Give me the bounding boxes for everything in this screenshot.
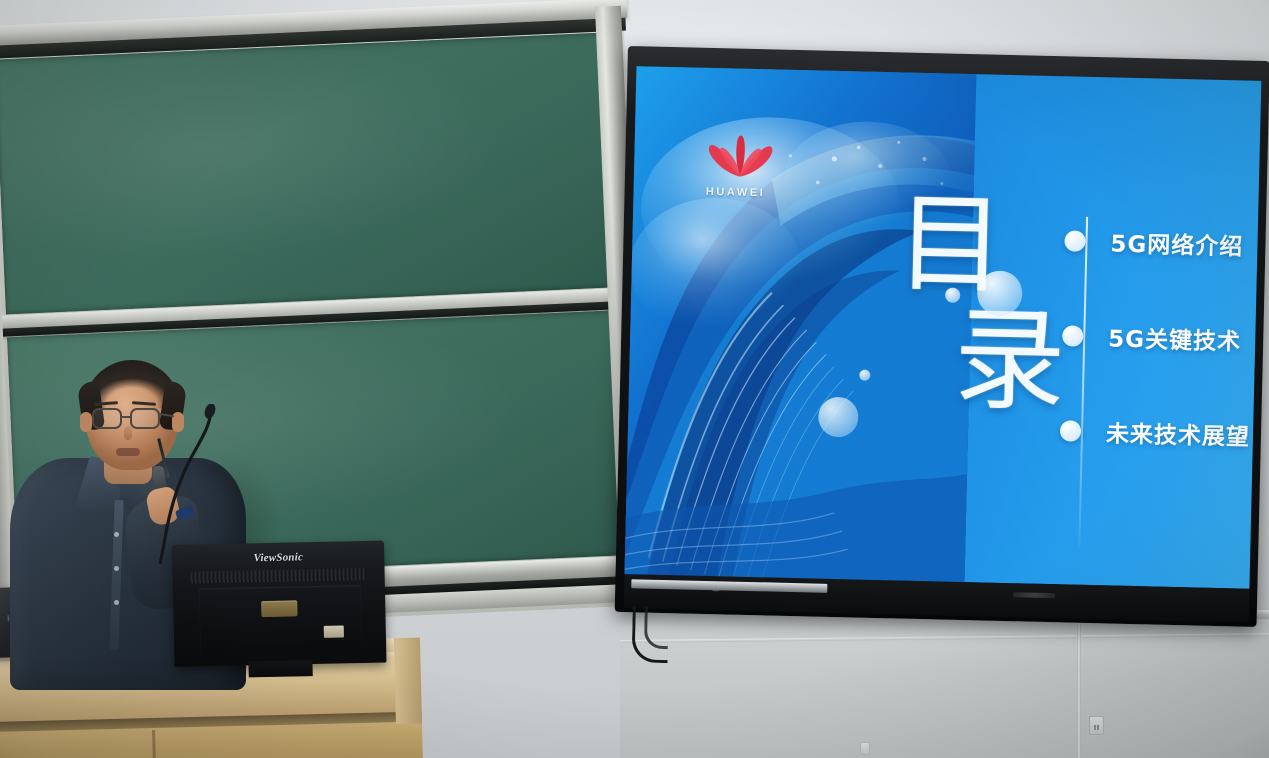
toc-item-label: 未来技术展望 [1106, 414, 1251, 451]
power-outlet-secondary [860, 742, 870, 755]
toc-item-3: 未来技术展望 [1060, 408, 1251, 456]
display-screen[interactable]: HUAWEI 目 录 5G网络介绍 [625, 66, 1262, 589]
monitor-label-sticker [324, 625, 344, 637]
presenter-nose [124, 426, 132, 440]
toc-item-label: 5G关键技术 [1108, 319, 1242, 356]
wave-illustration [625, 66, 977, 582]
toc-item-1: 5G网络介绍 [1064, 218, 1244, 266]
display-brand-mark [1013, 592, 1055, 598]
monitor-vesa-plate [261, 600, 297, 617]
decorative-bubble [977, 270, 1023, 316]
toc-item-label: 5G网络介绍 [1110, 224, 1244, 261]
presenter-mouth [116, 448, 140, 456]
presentation-display[interactable]: HUAWEI 目 录 5G网络介绍 [615, 46, 1269, 631]
eyeglasses-lens-left [92, 408, 122, 429]
slide-toc: HUAWEI 目 录 5G网络介绍 [625, 66, 1262, 589]
blackboard-panel-upper [0, 32, 629, 315]
huawei-flower-logo [690, 126, 791, 190]
bullet-dot-icon [1062, 325, 1083, 346]
presenter-ear-left [80, 412, 92, 432]
toc-item-2: 5G关键技术 [1062, 313, 1242, 361]
gooseneck-microphone [158, 404, 216, 564]
wave-background-image [625, 66, 977, 582]
power-outlet [1089, 716, 1104, 735]
monitor-brand-logo: ViewSonic [232, 551, 324, 565]
bullet-dot-icon [1064, 230, 1085, 251]
lectern-monitor[interactable]: ViewSonic [172, 541, 387, 677]
toc-connector-line [1078, 217, 1088, 547]
wall-seam-vertical [1077, 618, 1081, 758]
monitor-stand [248, 660, 312, 677]
eyeglasses-lens-right [130, 408, 160, 429]
lectern-right-edge [394, 637, 422, 724]
shirt-button [114, 600, 119, 605]
shirt-button [114, 532, 119, 537]
shirt-button [114, 566, 119, 571]
monitor-rear-inset [199, 585, 362, 654]
lecture-hall-photo: HUAWEI 目 录 5G网络介绍 [0, 0, 1269, 758]
eyeglasses-bridge [122, 416, 130, 418]
bullet-dot-icon [1060, 420, 1081, 441]
